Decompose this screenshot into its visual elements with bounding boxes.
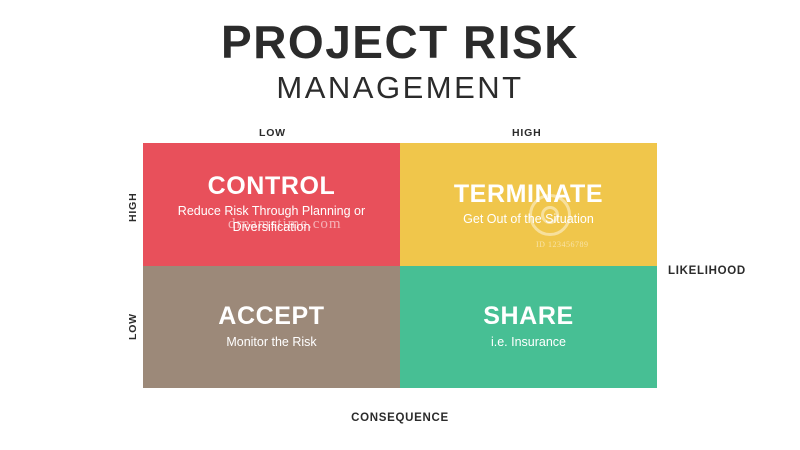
- infographic-canvas: PROJECT RISK MANAGEMENT LOW HIGH HIGH LO…: [0, 0, 800, 450]
- matrix-cell-share[interactable]: SHARE i.e. Insurance: [400, 266, 657, 389]
- title-main: PROJECT RISK: [0, 18, 800, 66]
- axis-label-consequence-high: HIGH: [512, 127, 541, 139]
- matrix-cell-terminate[interactable]: TERMINATE Get Out of the Situation: [400, 143, 657, 266]
- matrix-cell-description: Get Out of the Situation: [463, 212, 594, 228]
- axis-title-consequence: CONSEQUENCE: [0, 412, 800, 424]
- axis-label-likelihood-low: LOW: [127, 313, 139, 340]
- title-sub: MANAGEMENT: [0, 70, 800, 106]
- matrix-cell-title: ACCEPT: [218, 303, 324, 331]
- risk-matrix: CONTROL Reduce Risk Through Planning or …: [143, 143, 657, 388]
- page-title: PROJECT RISK MANAGEMENT: [0, 18, 800, 106]
- matrix-cell-title: SHARE: [483, 303, 574, 331]
- axis-title-likelihood: LIKELIHOOD: [668, 265, 746, 277]
- matrix-cell-description: i.e. Insurance: [491, 335, 566, 351]
- matrix-cell-description: Reduce Risk Through Planning or Diversif…: [172, 204, 372, 235]
- matrix-cell-accept[interactable]: ACCEPT Monitor the Risk: [143, 266, 400, 389]
- matrix-cell-title: CONTROL: [208, 173, 336, 201]
- axis-label-likelihood-high: HIGH: [127, 193, 139, 222]
- matrix-cell-title: TERMINATE: [454, 181, 603, 209]
- matrix-cell-control[interactable]: CONTROL Reduce Risk Through Planning or …: [143, 143, 400, 266]
- axis-label-consequence-low: LOW: [259, 127, 286, 139]
- matrix-cell-description: Monitor the Risk: [226, 335, 316, 351]
